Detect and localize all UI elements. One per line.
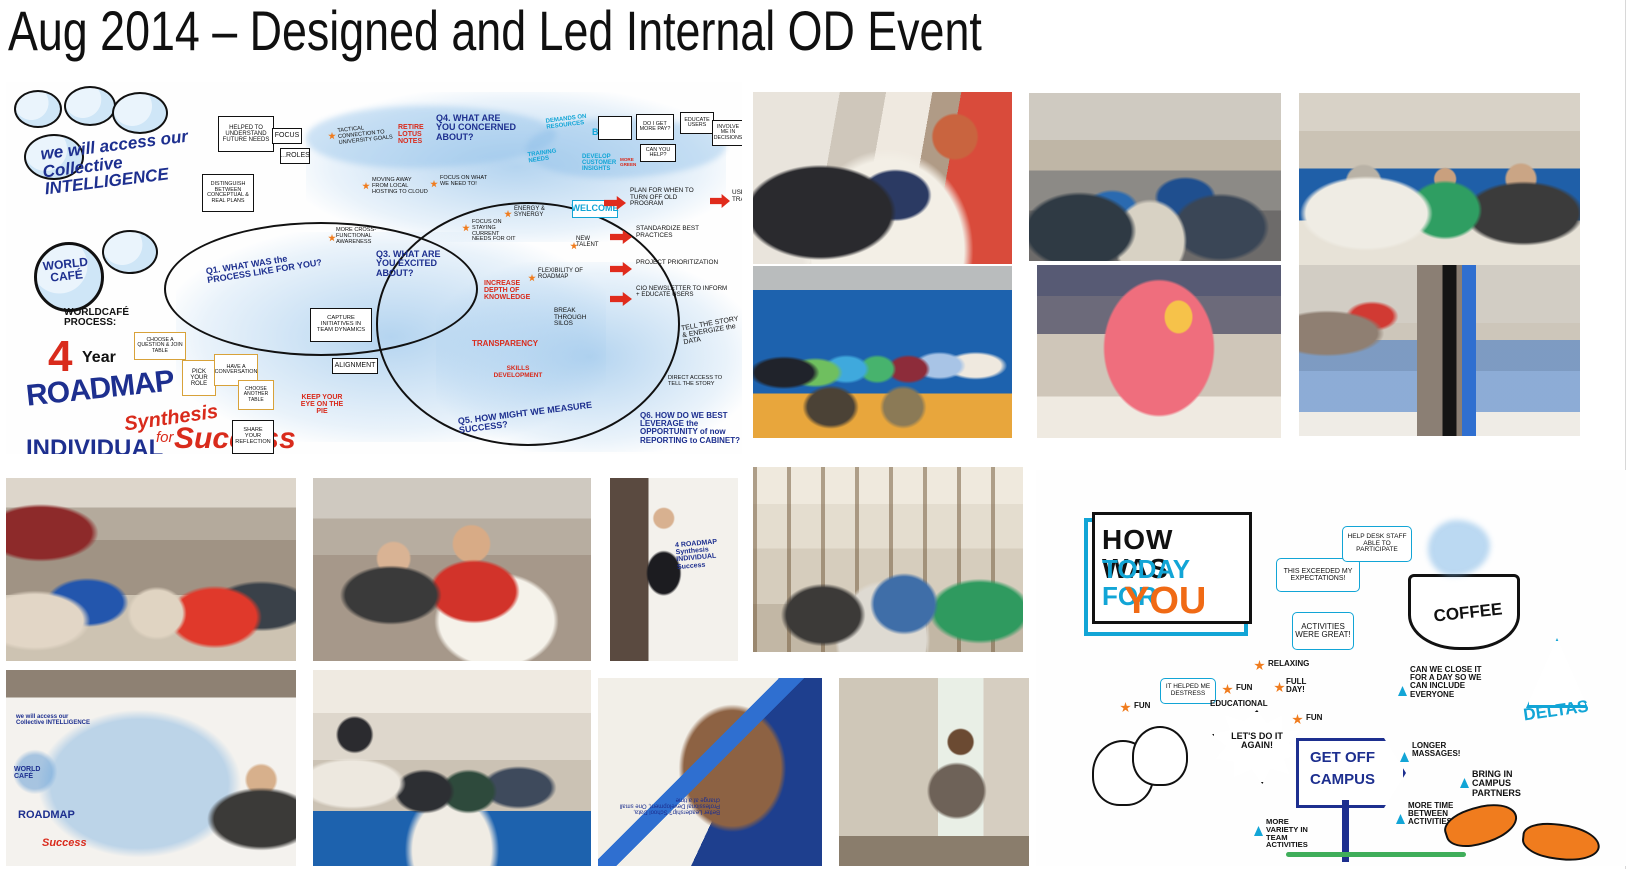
world-cafe-graphic-recording: we will access our Collective INTELLIGEN… xyxy=(6,82,742,454)
photo-laptops-atrium xyxy=(753,467,1023,652)
globe-icon xyxy=(64,86,116,126)
bubble-do-i-get-more-pay: DO I GET MORE PAY? xyxy=(636,114,674,140)
photo-subject-overlay xyxy=(753,92,1012,264)
star-word-educational: EDUCATIONAL xyxy=(1210,700,1270,708)
star-icon xyxy=(1292,714,1303,725)
photo-speaker-podium xyxy=(839,678,1029,866)
photo-roundtable-discussion xyxy=(313,670,591,866)
star-note-4: FOCUS ON WHAT WE NEED TO! xyxy=(440,176,488,188)
star-icon xyxy=(1222,684,1233,695)
star-icon xyxy=(1120,702,1131,713)
worldcafe-process-label: WORLDCAFÉ PROCESS: xyxy=(64,308,154,329)
star-note-5: FOCUS ON STAYING CURRENT NEEDS FOR OIT xyxy=(472,220,518,243)
photo-scribe-at-easel: 4 ROADMAPSynthesisINDIVIDUAL Success xyxy=(610,478,738,661)
delta-bullet-icon xyxy=(1400,752,1409,762)
figure-doodle xyxy=(1132,726,1188,786)
photo-subject-overlay xyxy=(6,478,296,661)
photo-signed-pink-balloon xyxy=(1037,265,1281,438)
star-word-relaxing: RELAXING xyxy=(1268,660,1309,668)
bubble-activities-great: ACTIVITIES WERE GREAT! xyxy=(1292,612,1354,650)
photo-subject-overlay xyxy=(1029,93,1281,261)
burst-text: LET'S DO IT AGAIN! xyxy=(1228,732,1286,751)
easel-sketch-text: 4 ROADMAPSynthesisINDIVIDUAL Success xyxy=(675,538,727,571)
steam-swirl xyxy=(1428,520,1490,576)
graphic-recording-ink: we will access our Collective INTELLIGEN… xyxy=(6,82,742,454)
photo-subject-overlay xyxy=(313,670,591,866)
delta-item-2: LONGER MASSAGES! xyxy=(1412,742,1474,758)
delta-item-4: BRING IN CAMPUS PARTNERS xyxy=(1472,770,1530,798)
callout-roles: ...ROLES xyxy=(280,148,310,164)
paper-stack-icon xyxy=(598,116,632,140)
photo-registration-checkin xyxy=(753,92,1012,264)
roadmap-four: 4 xyxy=(48,334,72,379)
shoe-doodle xyxy=(1520,820,1601,864)
delta-bullet-icon xyxy=(1254,826,1263,836)
photo-subject-overlay xyxy=(313,478,591,661)
delta-item-1: CAN WE CLOSE IT FOR A DAY SO WE CAN INCL… xyxy=(1410,666,1482,699)
callout-capture-initiatives: CAPTURE INITIATIVES IN TEAM DYNAMICS xyxy=(310,308,372,342)
callout-distinguish-plans: DISTINGUISH BETWEEN CONCEPTUAL & REAL PL… xyxy=(202,174,254,212)
process-step-5: SHARE YOUR REFLECTION xyxy=(232,420,274,454)
photo-mural-presentation: we will access our Collective INTELLIGEN… xyxy=(6,670,296,866)
graphic-recording-ink: HOW WAS TODAY FOR YOU THIS EXCEEDED MY E… xyxy=(1036,470,1626,866)
globe-icon xyxy=(112,92,168,134)
sign-line-1: GET OFF xyxy=(1310,750,1384,765)
callout-focus: FOCUS xyxy=(272,128,302,144)
star-word-fun-3: FUN xyxy=(1306,714,1322,722)
story-note-3: BREAK THROUGH SILOS xyxy=(554,308,592,328)
photo-subject-overlay xyxy=(6,670,296,866)
process-step-2: PICK YOUR ROLE xyxy=(182,360,216,396)
star-note-3: MORE CROSS-FUNCTIONAL AWARENESS xyxy=(336,228,388,245)
bubble-exceeded-expectations: THIS EXCEEDED MY EXPECTATIONS! xyxy=(1276,558,1360,592)
bubble-can-you-help: CAN YOU HELP? xyxy=(640,144,676,162)
photo-pen-cup-globe xyxy=(1299,265,1580,436)
photo-subject-overlay xyxy=(1299,93,1580,265)
delta-bullet-icon xyxy=(1398,686,1407,696)
star-word-fun-2: FUN xyxy=(1134,702,1150,710)
flipchart-writing: Better Leadership? School Data, Professi… xyxy=(610,796,720,815)
globe-icon xyxy=(14,90,62,128)
feedback-graphic-recording: HOW WAS TODAY FOR YOU THIS EXCEEDED MY E… xyxy=(1036,470,1626,866)
arrow-action-4: PROJECT PRIORITIZATION xyxy=(636,260,726,267)
photo-subject-overlay xyxy=(839,678,1029,866)
process-step-4: CHOOSE ANOTHER TABLE xyxy=(238,380,274,410)
photo-marker xyxy=(1299,265,1580,436)
arrow-action-5: CIO NEWSLETTER TO INFORM + EDUCATE USERS xyxy=(636,286,732,299)
photo-hand-writing-flipchart: Better Leadership? School Data, Professi… xyxy=(598,678,822,866)
photo-marker xyxy=(598,678,822,866)
slide-canvas: Aug 2014 – Designed and Led Internal OD … xyxy=(0,0,1630,869)
star-word-fun-1: FUN xyxy=(1236,684,1252,692)
delta-item-5: MORE VARIETY IN TEAM ACTIVITIES xyxy=(1266,818,1308,849)
arrow-action-1: PLAN FOR WHEN TO TURN OFF OLD PROGRAM xyxy=(630,188,706,208)
callout-helped-understand: HELPED TO UNDERSTAND FUTURE NEEDS xyxy=(218,116,274,152)
gr1-question-4: Q4. WHAT ARE YOU CONCERNED ABOUT? xyxy=(436,114,520,142)
star-note-2: MOVING AWAY FROM LOCAL HOSTING TO CLOUD xyxy=(372,178,428,195)
bubble-educate-users: EDUCATE USERS xyxy=(680,112,714,134)
roadmap-individual: INDIVIDUAL xyxy=(26,437,163,454)
star-note-6: ENERGY & SYNERGY xyxy=(514,206,566,218)
bubble-helped-destress: IT HELPED ME DESTRESS xyxy=(1160,678,1216,704)
photo-balloon-highlight xyxy=(1037,265,1281,438)
page-title: Aug 2014 – Designed and Led Internal OD … xyxy=(8,0,1192,64)
roadmap-year: Year xyxy=(82,350,116,366)
globe-icon xyxy=(102,230,158,274)
delta-bullet-icon xyxy=(1460,778,1469,788)
bubble-help-desk-staff: HELP DESK STAFF ABLE TO PARTICIPATE xyxy=(1342,526,1412,562)
star-icon xyxy=(1254,660,1265,671)
red-note-increase-depth: INCREASE DEPTH OF KNOWLEDGE xyxy=(484,280,540,302)
process-step-1: CHOOSE A QUESTION & JOIN TABLE xyxy=(134,332,186,360)
deltas-label: DELTAS xyxy=(1515,697,1597,725)
photo-subject-overlay xyxy=(753,467,1023,652)
story-note-2: DIRECT ACCESS TO TELL THE STORY xyxy=(668,376,736,388)
gr1-question-6: Q6. HOW DO WE BEST LEVERAGE the OPPORTUN… xyxy=(640,412,740,445)
photo-subject-overlay xyxy=(610,478,738,661)
grass-line xyxy=(1286,852,1466,857)
red-note-keep-eye-pie: KEEP YOUR EYE ON THE PIE xyxy=(298,394,346,416)
red-note-skills-development: SKILLS DEVELOPMENT xyxy=(492,366,544,379)
sign-line-2: CAMPUS xyxy=(1310,772,1384,787)
photo-subject-overlay xyxy=(753,266,1012,438)
callout-alignment: ALIGNMENT xyxy=(332,358,378,374)
bubble-involve-me: INVOLVE ME IN DECISIONS xyxy=(712,120,742,146)
photo-ballroom-audience xyxy=(1029,93,1281,261)
photo-fitness-center-tour xyxy=(6,478,296,661)
headline-line-3: YOU xyxy=(1124,582,1244,621)
star-note-7: FLEXIBILITY OF ROADMAP xyxy=(538,268,588,280)
bubble-more-green: MORE GREEN xyxy=(620,158,644,167)
photo-table-thumbs-up xyxy=(1299,93,1580,265)
photo-apron-drawing-smile xyxy=(313,478,591,661)
arrow-action-3: STANDARDIZE BEST PRACTICES xyxy=(636,226,710,239)
photo-gym-team-group xyxy=(753,266,1012,438)
star-word-full-day: FULL DAY! xyxy=(1286,678,1320,694)
delta-bullet-icon xyxy=(1396,814,1405,824)
red-note-transparency: TRANSPARENCY xyxy=(472,340,540,348)
arrow-action-2: USER TRAINING xyxy=(732,190,742,203)
star-icon xyxy=(1274,682,1285,693)
red-note-retire-lotus: RETIRE LOTUS NOTES xyxy=(398,124,436,146)
gr1-question-3: Q3. WHAT ARE YOU EXCITED ABOUT? xyxy=(376,250,456,278)
star-note-8: NEW TALENT xyxy=(576,236,612,248)
